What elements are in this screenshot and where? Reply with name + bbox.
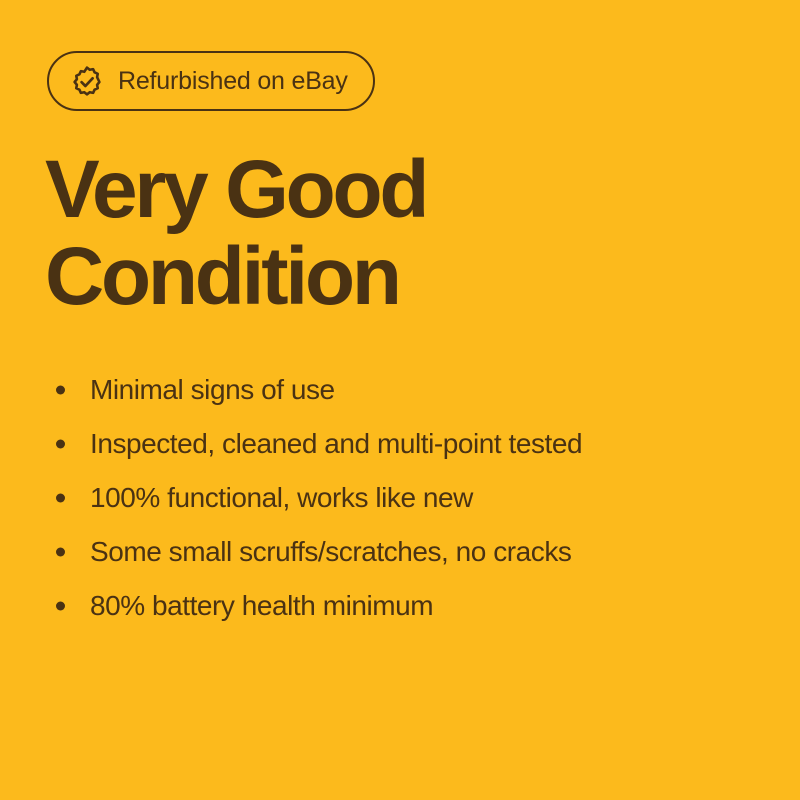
list-item: Some small scruffs/scratches, no cracks bbox=[54, 525, 582, 579]
list-item-label: Some small scruffs/scratches, no cracks bbox=[90, 525, 571, 579]
list-item-label: 80% battery health minimum bbox=[90, 579, 433, 633]
list-item: 80% battery health minimum bbox=[54, 579, 582, 633]
bullet-icon bbox=[54, 525, 90, 579]
refurbished-condition-card: Refurbished on eBay Very Good Condition … bbox=[0, 0, 800, 800]
page-title: Very Good Condition bbox=[45, 146, 426, 320]
bullet-icon bbox=[54, 471, 90, 525]
bullet-icon bbox=[54, 579, 90, 633]
list-item: Inspected, cleaned and multi-point teste… bbox=[54, 417, 582, 471]
refurbished-badge-label: Refurbished on eBay bbox=[118, 69, 348, 94]
list-item: 100% functional, works like new bbox=[54, 471, 582, 525]
verified-rosette-check-icon bbox=[70, 65, 104, 99]
list-item: Minimal signs of use bbox=[54, 363, 582, 417]
list-item-label: Inspected, cleaned and multi-point teste… bbox=[90, 417, 582, 471]
list-item-label: Minimal signs of use bbox=[90, 363, 335, 417]
condition-feature-list: Minimal signs of use Inspected, cleaned … bbox=[54, 363, 582, 633]
bullet-icon bbox=[54, 363, 90, 417]
list-item-label: 100% functional, works like new bbox=[90, 471, 473, 525]
bullet-icon bbox=[54, 417, 90, 471]
refurbished-badge: Refurbished on eBay bbox=[47, 51, 375, 111]
